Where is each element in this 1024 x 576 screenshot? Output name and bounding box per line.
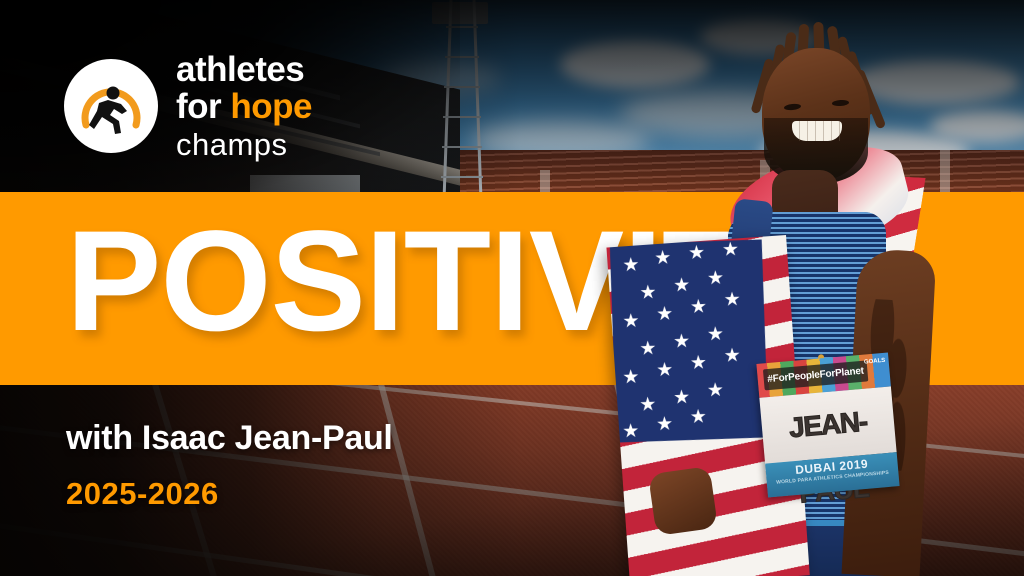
- season-label: 2025-2026: [66, 476, 219, 512]
- promo-graphic: 5 6 POSITIVITY: [0, 0, 1024, 576]
- presenter-label: with Isaac Jean-Paul: [66, 419, 393, 458]
- brand-line-2: for hope: [176, 89, 312, 124]
- race-bib: #ForPeopleForPlanet GOALS JEAN-PAUL DUBA…: [756, 353, 899, 498]
- flag-union: ★ ★ ★ ★ ★ ★ ★ ★ ★ ★ ★ ★ ★ ★ ★ ★ ★ ★ ★ ★: [610, 239, 769, 442]
- athlete-photo: USA ★ ★ ★ ★ ★ ★ ★ ★ ★ ★ ★ ★ ★ ★ ★: [600, 0, 1024, 576]
- brand-logo[interactable]: athletes for hope champs: [64, 52, 312, 160]
- brand-line-1: athletes: [176, 52, 312, 87]
- brand-line-3: champs: [176, 129, 312, 160]
- brand-for: for: [176, 87, 221, 126]
- smile: [792, 121, 842, 141]
- running-figure-in-circle-icon: [64, 59, 158, 153]
- brand-wordmark: athletes for hope champs: [176, 52, 312, 160]
- bib-athlete-name: JEAN-PAUL: [759, 386, 896, 463]
- hand-gripping-flag: [648, 466, 718, 536]
- brand-hope: hope: [230, 87, 312, 126]
